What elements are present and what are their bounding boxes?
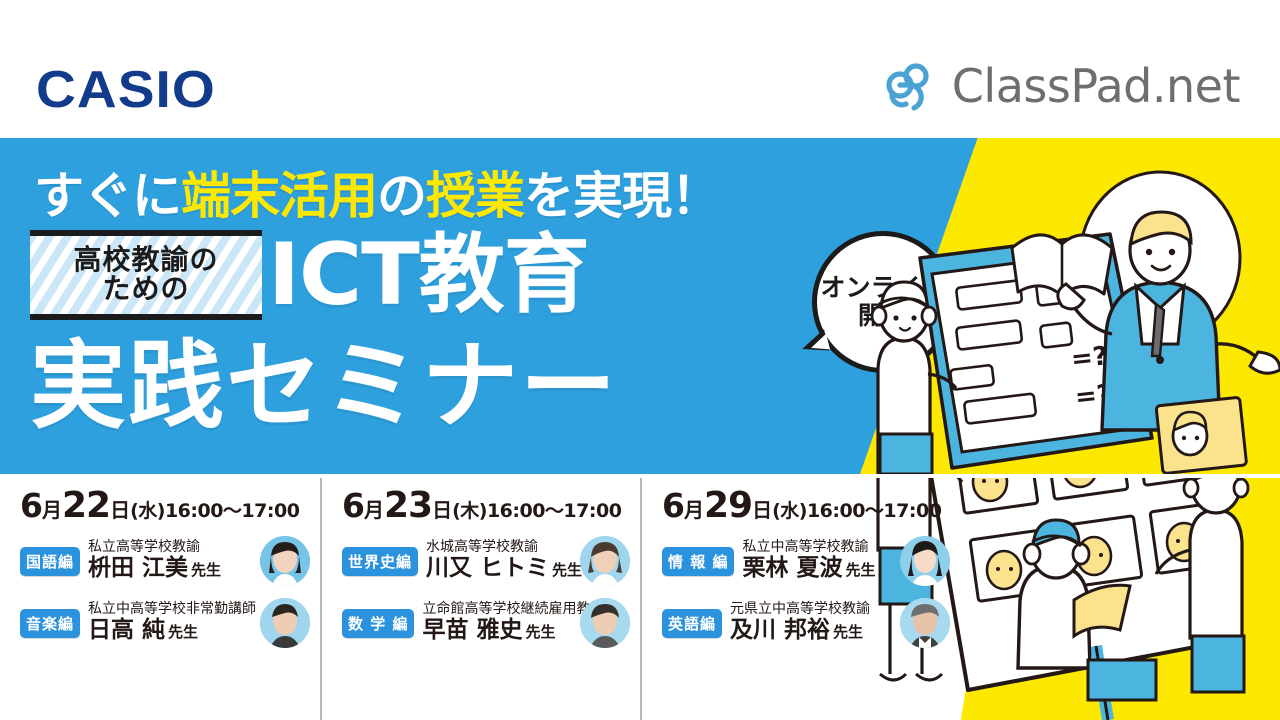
date-month-2: 6 bbox=[342, 486, 364, 525]
tagline-part3: を実現！ bbox=[524, 167, 720, 225]
speaker-name: 川又 ヒトミ先生 bbox=[426, 556, 576, 582]
date-day-unit-1: 日 bbox=[110, 498, 130, 522]
date-weekday-3: (水) bbox=[772, 500, 807, 522]
speaker-row: 音楽編 私立中高等学校非常勤講師 日高 純先生 bbox=[20, 594, 310, 652]
avatar bbox=[580, 536, 630, 586]
speaker-honorific: 先生 bbox=[552, 561, 582, 579]
speaker-role: 私立中高等学校教諭 bbox=[742, 540, 896, 556]
speaker-role: 私立中高等学校非常勤講師 bbox=[88, 602, 256, 618]
session-date-3: 6月29日(水)16:00〜17:00 bbox=[662, 488, 950, 524]
speaker-honorific: 先生 bbox=[191, 561, 221, 579]
date-month-unit-3: 月 bbox=[684, 498, 704, 522]
avatar bbox=[580, 598, 630, 648]
speaker-name: 早苗 雅史先生 bbox=[422, 618, 576, 644]
date-month-unit-1: 月 bbox=[42, 498, 62, 522]
speaker-name-text: 川又 ヒトミ bbox=[426, 555, 549, 581]
speaker-name-text: 日高 純 bbox=[88, 617, 165, 643]
hero-title-line2: 実践セミナー bbox=[30, 338, 618, 434]
date-month-3: 6 bbox=[662, 486, 684, 525]
tagline-highlight1: 端末活用 bbox=[181, 167, 377, 225]
date-weekday-1: (水) bbox=[130, 500, 165, 522]
speaker-honorific: 先生 bbox=[168, 623, 198, 641]
session-column-2: 6月23日(木)16:00〜17:00 世界史編 水城高等学校教諭 川又 ヒトミ… bbox=[320, 478, 640, 720]
session-date-1: 6月22日(水)16:00〜17:00 bbox=[20, 488, 310, 524]
speaker-name: 日高 純先生 bbox=[88, 618, 256, 644]
speaker-row: 世界史編 水城高等学校教諭 川又 ヒトミ先生 bbox=[342, 532, 630, 590]
speaker-text: 私立高等学校教諭 枡田 江美先生 bbox=[88, 540, 256, 581]
tagline-part1: すぐに bbox=[34, 167, 181, 225]
date-day-1: 22 bbox=[62, 485, 110, 526]
classpad-wordmark: ClassPad.net bbox=[952, 63, 1240, 109]
speaker-text: 水城高等学校教諭 川又 ヒトミ先生 bbox=[426, 540, 576, 581]
online-class-illustration-top: =? =? bbox=[860, 138, 1280, 474]
date-time-2: 16:00〜17:00 bbox=[487, 500, 621, 522]
speaker-name: 栗林 夏波先生 bbox=[742, 556, 896, 582]
hero-title-row: 高校教諭の ための ICT教育 bbox=[30, 230, 589, 320]
speaker-name-text: 栗林 夏波 bbox=[742, 555, 842, 581]
subject-badge: 国語編 bbox=[20, 547, 80, 576]
avatar bbox=[900, 536, 950, 586]
chain-link-icon bbox=[878, 60, 936, 112]
date-day-unit-3: 日 bbox=[752, 498, 772, 522]
classpad-logo: ClassPad.net bbox=[878, 60, 1240, 112]
avatar bbox=[260, 536, 310, 586]
date-day-unit-2: 日 bbox=[432, 498, 452, 522]
page-header: CASIO ClassPad.net bbox=[0, 0, 1280, 138]
speaker-text: 私立中高等学校非常勤講師 日高 純先生 bbox=[88, 602, 256, 643]
date-time-1: 16:00〜17:00 bbox=[165, 500, 299, 522]
bubble-tail bbox=[799, 329, 830, 357]
subject-badge: 英語編 bbox=[662, 609, 722, 638]
speaker-name: 枡田 江美先生 bbox=[88, 556, 256, 582]
tagline-highlight2: 授業 bbox=[426, 167, 524, 225]
date-day-2: 23 bbox=[384, 485, 432, 526]
speaker-row: 英語編 元県立中高等学校教諭 及川 邦裕先生 bbox=[662, 594, 950, 652]
date-time-3: 16:00〜17:00 bbox=[807, 500, 941, 522]
date-month-unit-2: 月 bbox=[364, 498, 384, 522]
tagline-part2: の bbox=[377, 167, 426, 225]
hero-eyebrow-line2: ための bbox=[102, 275, 189, 304]
hero-eyebrow-line1: 高校教諭の bbox=[73, 246, 218, 275]
hero-title-line1: ICT教育 bbox=[268, 232, 589, 318]
session-column-3: 6月29日(水)16:00〜17:00 情 報 編 私立中高等学校教諭 栗林 夏… bbox=[640, 478, 960, 720]
session-date-2: 6月23日(木)16:00〜17:00 bbox=[342, 488, 630, 524]
speaker-name-text: 及川 邦裕 bbox=[730, 617, 830, 643]
speaker-text: 私立中高等学校教諭 栗林 夏波先生 bbox=[742, 540, 896, 581]
speaker-text: 立命館高等学校継続雇用教諭 早苗 雅史先生 bbox=[422, 602, 576, 643]
hero-eyebrow-box: 高校教諭の ための bbox=[30, 230, 262, 320]
subject-badge: 世界史編 bbox=[342, 547, 418, 576]
speaker-role: 私立高等学校教諭 bbox=[88, 540, 256, 556]
date-day-3: 29 bbox=[704, 485, 752, 526]
speaker-row: 国語編 私立高等学校教諭 枡田 江美先生 bbox=[20, 532, 310, 590]
hero-tagline: すぐに端末活用の授業を実現！ bbox=[34, 156, 720, 228]
date-month-1: 6 bbox=[20, 486, 42, 525]
avatar bbox=[260, 598, 310, 648]
speaker-honorific: 先生 bbox=[525, 623, 555, 641]
speaker-row: 数 学 編 立命館高等学校継続雇用教諭 早苗 雅史先生 bbox=[342, 594, 630, 652]
casio-logo: CASIO bbox=[36, 64, 216, 116]
speaker-honorific: 先生 bbox=[833, 623, 863, 641]
speaker-row: 情 報 編 私立中高等学校教諭 栗林 夏波先生 bbox=[662, 532, 950, 590]
subject-badge: 数 学 編 bbox=[342, 609, 414, 638]
hero-banner: =? =? bbox=[0, 138, 1280, 474]
speaker-name-text: 枡田 江美 bbox=[88, 555, 188, 581]
subject-badge: 情 報 編 bbox=[662, 547, 734, 576]
sessions-columns: 6月22日(水)16:00〜17:00 国語編 私立高等学校教諭 枡田 江美先生… bbox=[0, 478, 960, 720]
subject-badge: 音楽編 bbox=[20, 609, 80, 638]
speaker-text: 元県立中高等学校教諭 及川 邦裕先生 bbox=[730, 602, 896, 643]
date-weekday-2: (木) bbox=[452, 500, 487, 522]
speaker-name-text: 早苗 雅史 bbox=[422, 617, 522, 643]
speaker-name: 及川 邦裕先生 bbox=[730, 618, 896, 644]
sessions-section: 6月22日(水)16:00〜17:00 国語編 私立高等学校教諭 枡田 江美先生… bbox=[0, 478, 1280, 720]
speaker-role: 水城高等学校教諭 bbox=[426, 540, 576, 556]
avatar bbox=[900, 598, 950, 648]
speaker-honorific: 先生 bbox=[845, 561, 875, 579]
speaker-role: 立命館高等学校継続雇用教諭 bbox=[422, 602, 576, 618]
session-column-1: 6月22日(水)16:00〜17:00 国語編 私立高等学校教諭 枡田 江美先生… bbox=[0, 478, 320, 720]
speaker-role: 元県立中高等学校教諭 bbox=[730, 602, 896, 618]
